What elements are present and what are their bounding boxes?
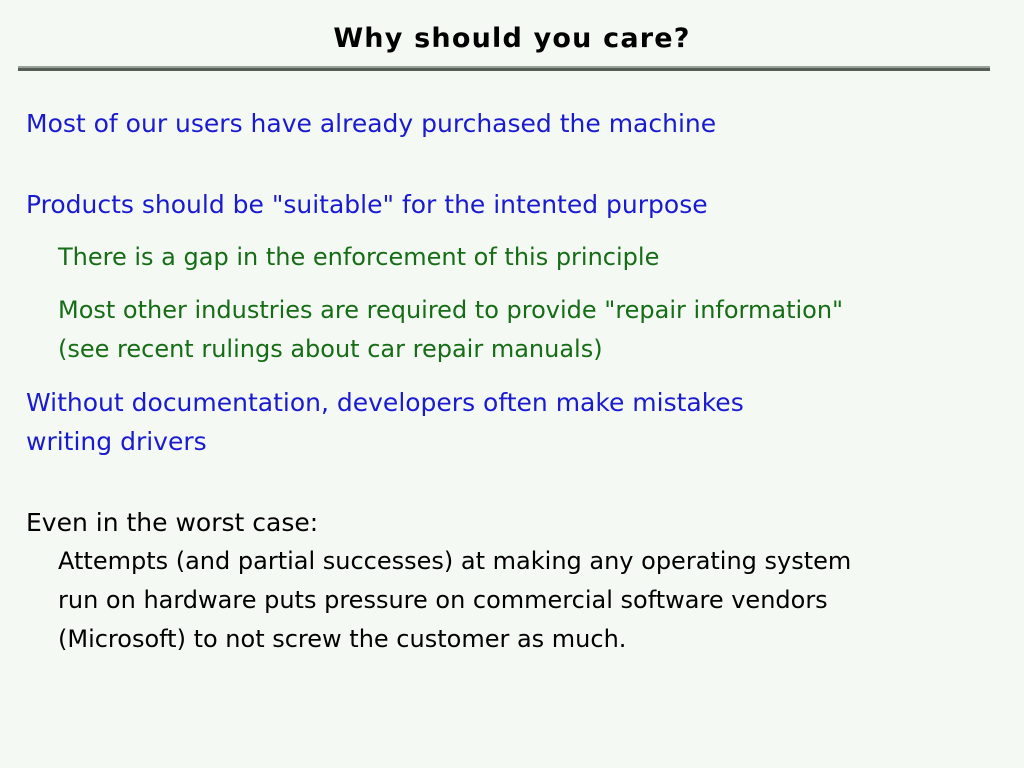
bullet-gap-enforcement: There is a gap in the enforcement of thi… <box>58 238 988 277</box>
bullet-without-documentation: Without documentation, developers often … <box>26 383 986 461</box>
spacer-1 <box>0 143 1024 185</box>
slide-body: Most of our users have already purchased… <box>0 104 1024 659</box>
spacer-3 <box>0 277 1024 291</box>
slide-title-block: Why should you care? <box>0 24 1024 54</box>
spacer-2 <box>0 224 1024 238</box>
bullet-worst-case: Even in the worst case: <box>26 503 986 542</box>
bullet-repair-information: Most other industries are required to pr… <box>58 291 988 369</box>
title-divider-rule <box>18 66 990 71</box>
spacer-4 <box>0 369 1024 383</box>
spacer-5 <box>0 461 1024 503</box>
slide-canvas: Why should you care? Most of our users h… <box>0 0 1024 768</box>
bullet-users-purchased: Most of our users have already purchased… <box>26 104 986 143</box>
bullet-attempts-pressure: Attempts (and partial successes) at maki… <box>58 542 988 659</box>
page-title: Why should you care? <box>333 24 690 54</box>
bullet-products-suitable: Products should be "suitable" for the in… <box>26 185 986 224</box>
